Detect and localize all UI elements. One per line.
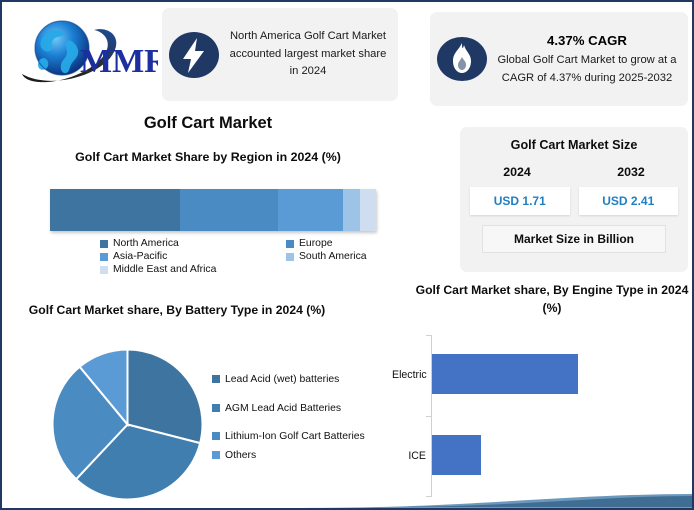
- legend-label-europe: Europe: [299, 238, 333, 249]
- battery-legend: Lead Acid (wet) batteries AGM Lead Acid …: [212, 372, 392, 463]
- cagr-headline: 4.37% CAGR: [494, 31, 680, 51]
- market-size-years: 2024 2032: [460, 165, 688, 179]
- market-size-value-2: USD 2.41: [579, 187, 679, 215]
- infographic-page: MMR North America Golf Cart Market accou…: [0, 0, 694, 510]
- legend-item-europe: Europe: [286, 238, 333, 249]
- legend-item-south-america: South America: [286, 251, 367, 262]
- bar-segment-south-america: [343, 189, 359, 231]
- battery-pie-chart: [50, 347, 205, 502]
- fact-card-cagr-text: 4.37% CAGR Global Golf Cart Market to gr…: [494, 31, 680, 87]
- legend-swatch-agm-lead-acid: [212, 404, 220, 412]
- market-size-value-1: USD 1.71: [470, 187, 570, 215]
- legend-swatch-asia-pacific: [100, 253, 108, 261]
- fact-card-cagr: 4.37% CAGR Global Golf Cart Market to gr…: [430, 12, 688, 106]
- market-size-year-2: 2032: [574, 165, 688, 179]
- battery-chart-title: Golf Cart Market share, By Battery Type …: [12, 302, 342, 320]
- legend-label-agm-lead-acid: AGM Lead Acid Batteries: [225, 401, 341, 417]
- axis-tick-top: [426, 335, 431, 336]
- engine-bar-electric: [432, 354, 578, 394]
- footer-swoosh: [2, 494, 694, 508]
- bar-segment-asia-pacific: [278, 189, 343, 231]
- bar-segment-europe: [180, 189, 278, 231]
- legend-item-asia-pacific: Asia-Pacific: [100, 251, 286, 262]
- bar-segment-middle-east-africa: [360, 189, 376, 231]
- engine-bar-chart: Electric ICE: [392, 332, 686, 500]
- legend-label-north-america: North America: [113, 238, 179, 249]
- legend-swatch-lithium-ion: [212, 432, 220, 440]
- flame-icon: [436, 33, 488, 85]
- region-legend: North America Europe Asia-Pacific South …: [100, 238, 400, 277]
- legend-swatch-north-america: [100, 240, 108, 248]
- globe-swoosh-icon: MMR: [10, 10, 158, 96]
- engine-bar-ice: [432, 435, 481, 475]
- legend-label-others: Others: [225, 448, 256, 464]
- market-size-unit-note: Market Size in Billion: [482, 225, 666, 253]
- market-size-year-1: 2024: [460, 165, 574, 179]
- legend-swatch-middle-east-africa: [100, 266, 108, 274]
- engine-category-label-electric: Electric: [392, 369, 426, 381]
- axis-tick-mid: [426, 416, 431, 417]
- bar-segment-north-america: [50, 189, 180, 231]
- engine-category-label-ice: ICE: [392, 450, 426, 462]
- legend-item-others: Others: [212, 448, 392, 464]
- legend-label-lead-acid-wet: Lead Acid (wet) batteries: [225, 372, 339, 388]
- region-chart-title: Golf Cart Market Share by Region in 2024…: [2, 150, 414, 164]
- engine-chart-title: Golf Cart Market share, By Engine Type i…: [412, 282, 692, 317]
- legend-swatch-lead-acid-wet: [212, 375, 220, 383]
- legend-swatch-south-america: [286, 253, 294, 261]
- legend-item-middle-east-africa: Middle East and Africa: [100, 264, 286, 275]
- fact-card-region-text: North America Golf Cart Market accounted…: [226, 28, 390, 80]
- lightning-bolt-icon: [168, 29, 220, 81]
- region-stacked-bar: [50, 189, 376, 231]
- legend-swatch-europe: [286, 240, 294, 248]
- fact-card-region: North America Golf Cart Market accounted…: [162, 8, 398, 101]
- logo-wordmark: MMR: [80, 43, 158, 80]
- market-size-values: USD 1.71 USD 2.41: [460, 187, 688, 215]
- legend-label-south-america: South America: [299, 251, 367, 262]
- legend-item-lead-acid-wet: Lead Acid (wet) batteries: [212, 372, 392, 388]
- legend-item-north-america: North America: [100, 238, 286, 249]
- legend-label-asia-pacific: Asia-Pacific: [113, 251, 167, 262]
- market-size-title: Golf Cart Market Size: [460, 127, 688, 152]
- legend-label-lithium-ion: Lithium-Ion Golf Cart Batteries: [225, 429, 365, 445]
- legend-swatch-others: [212, 451, 220, 459]
- legend-item-agm-lead-acid: AGM Lead Acid Batteries: [212, 401, 392, 417]
- legend-label-middle-east-africa: Middle East and Africa: [113, 264, 216, 275]
- mmr-logo: MMR: [10, 10, 158, 96]
- page-title: Golf Cart Market: [2, 114, 414, 133]
- market-size-card: Golf Cart Market Size 2024 2032 USD 1.71…: [460, 127, 688, 272]
- cagr-description: Global Golf Cart Market to grow at a CAG…: [497, 54, 676, 83]
- legend-item-lithium-ion: Lithium-Ion Golf Cart Batteries: [212, 429, 392, 445]
